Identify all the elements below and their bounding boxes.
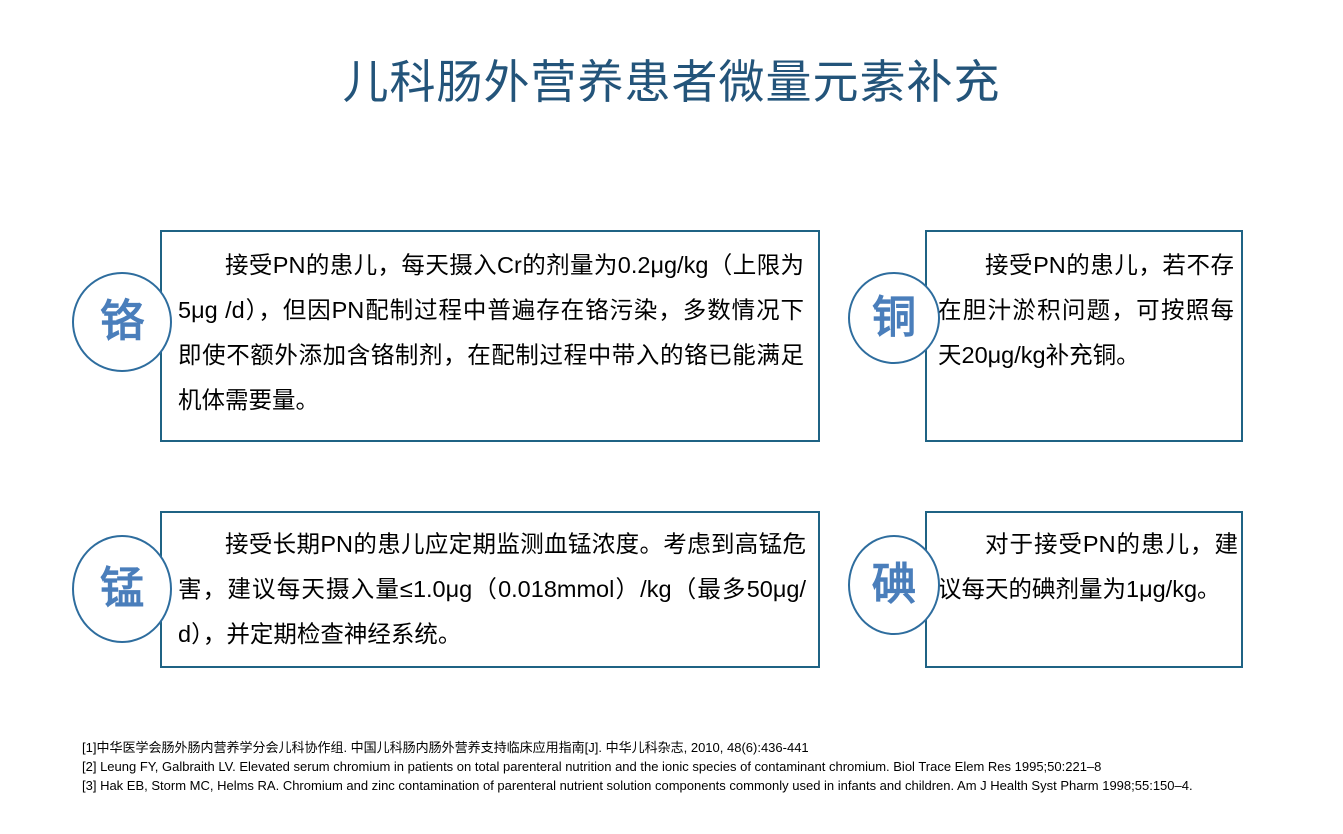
- page-title: 儿科肠外营养患者微量元素补充: [0, 52, 1343, 112]
- card-copper-badge-label: 铜: [872, 296, 916, 340]
- card-copper-text: 接受PN的患儿，若不存在胆汁淤积问题，可按照每天20μg/kg补充铜。: [938, 243, 1234, 378]
- card-chromium-badge-label: 铬: [100, 300, 144, 344]
- card-chromium-text: 接受PN的患儿，每天摄入Cr的剂量为0.2μg/kg（上限为5μg /d），但因…: [178, 243, 804, 423]
- card-manganese-text: 接受长期PN的患儿应定期监测血锰浓度。考虑到高锰危害，建议每天摄入量≤1.0μg…: [178, 522, 806, 657]
- card-manganese-badge-label: 锰: [100, 567, 144, 611]
- card-copper-badge: 铜: [848, 272, 940, 364]
- card-chromium-badge: 铬: [72, 272, 172, 372]
- card-manganese-badge: 锰: [72, 535, 172, 643]
- reference-item-3: [3] Hak EB, Storm MC, Helms RA. Chromium…: [82, 776, 1312, 795]
- card-iodine-badge-label: 碘: [872, 563, 916, 607]
- card-iodine-text: 对于接受PN的患儿，建议每天的碘剂量为1μg/kg。: [938, 522, 1238, 612]
- references-block: [1]中华医学会肠外肠内营养学分会儿科协作组. 中国儿科肠内肠外营养支持临床应用…: [82, 738, 1312, 795]
- reference-item-1: [1]中华医学会肠外肠内营养学分会儿科协作组. 中国儿科肠内肠外营养支持临床应用…: [82, 738, 1312, 757]
- reference-item-2: [2] Leung FY, Galbraith LV. Elevated ser…: [82, 757, 1312, 776]
- slide-root: 儿科肠外营养患者微量元素补充 接受PN的患儿，每天摄入Cr的剂量为0.2μg/k…: [0, 0, 1343, 834]
- card-iodine-badge: 碘: [848, 535, 940, 635]
